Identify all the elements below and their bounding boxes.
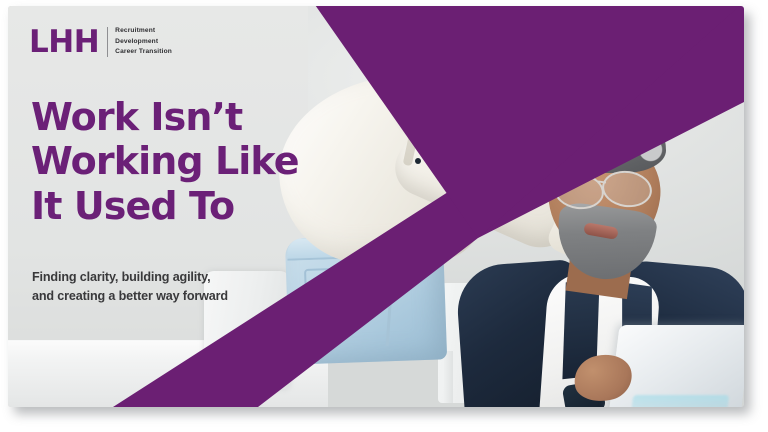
headline-line-3: It Used To — [31, 184, 331, 228]
subheadline-line-1: Finding clarity, building agility, — [32, 268, 322, 287]
lhh-logo[interactable]: LHH Recruitment Development Career Trans… — [29, 26, 172, 58]
logo-divider — [107, 27, 108, 57]
slide-headline: Work Isn’t Working Like It Used To — [31, 95, 331, 228]
slide-subheadline: Finding clarity, building agility, and c… — [32, 268, 322, 305]
headline-line-1: Work Isn’t — [31, 95, 331, 139]
lhh-wordmark: LHH — [29, 27, 99, 58]
tagline-line-career-transition: Career Transition — [115, 47, 172, 58]
tagline-line-recruitment: Recruitment — [115, 26, 172, 37]
tagline-line-development: Development — [115, 37, 172, 48]
lhh-tagline: Recruitment Development Career Transitio… — [115, 26, 172, 58]
slide-card: LHH Recruitment Development Career Trans… — [8, 6, 744, 407]
subheadline-line-2: and creating a better way forward — [32, 287, 322, 306]
headline-line-2: Working Like — [31, 139, 331, 183]
